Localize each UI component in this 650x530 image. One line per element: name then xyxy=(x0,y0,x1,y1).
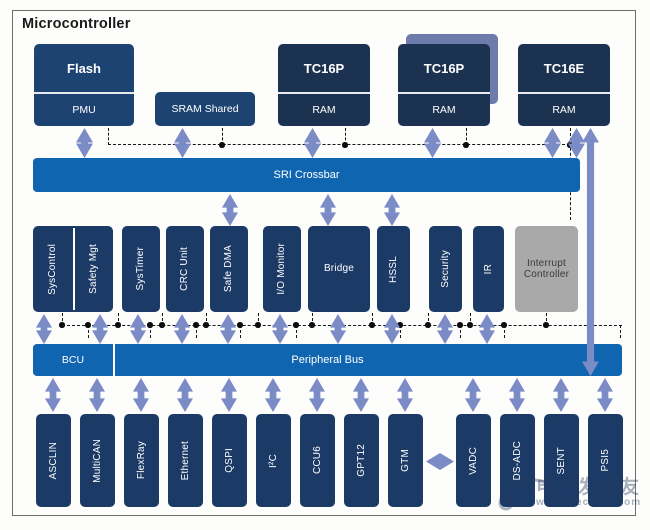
connector-arrow-vertical xyxy=(465,378,481,412)
block-label: I/O Monitor xyxy=(276,243,288,295)
block-label: Ethernet xyxy=(180,441,192,480)
connector-arrow-vertical xyxy=(553,378,569,412)
core-ram-label: RAM xyxy=(398,94,490,126)
bus-junction-dot xyxy=(293,322,299,328)
core-label: TC16E xyxy=(518,44,610,92)
block-label: VADC xyxy=(468,447,480,475)
dash-drop xyxy=(108,128,109,145)
bus-junction-dot xyxy=(457,322,463,328)
system-block-hssl[interactable]: HSSL xyxy=(377,226,410,312)
bcu-label: BCU xyxy=(33,344,113,376)
block-label: SysControl xyxy=(47,244,59,295)
bus-junction-dot xyxy=(543,322,549,328)
peripheral-bus-label: Peripheral Bus xyxy=(291,354,363,366)
block-label: FlexRay xyxy=(136,441,148,479)
bus-junction-dot xyxy=(59,322,65,328)
bus-junction-dot xyxy=(467,322,473,328)
bus-junction-dot xyxy=(159,322,165,328)
core-block-tc16e[interactable]: TC16E RAM xyxy=(518,44,610,126)
peripheral-block-gpt12[interactable]: GPT12 xyxy=(344,414,379,507)
block-label: PSI5 xyxy=(600,449,612,471)
block-label: HSSL xyxy=(388,256,400,283)
system-block-safety-mgt[interactable]: Safety Mgt xyxy=(74,226,113,312)
connector-arrow-vertical xyxy=(353,378,369,412)
connector-arrow-vertical xyxy=(221,378,237,412)
connector-arrow-vertical xyxy=(272,314,288,344)
peripheral-block-i2c[interactable]: I²C xyxy=(256,414,291,507)
peripheral-block-multican[interactable]: MultiCAN xyxy=(80,414,115,507)
bus-junction-dot xyxy=(85,322,91,328)
diagram-canvas: Microcontroller Flash PMU SRAM Shared TC… xyxy=(0,0,650,530)
connector-arrow-vertical xyxy=(397,378,413,412)
core-label: TC16P xyxy=(278,44,370,92)
bus-junction-dot xyxy=(342,142,348,148)
bcu-divider xyxy=(113,344,115,376)
block-label: Security xyxy=(440,250,452,288)
peripheral-bus[interactable]: Peripheral Bus BCU xyxy=(33,344,622,376)
connector-arrow-vertical xyxy=(133,378,149,412)
flash-label: Flash xyxy=(34,44,134,92)
connector-arrow-vertical xyxy=(384,314,400,344)
connector-arrow-vertical xyxy=(330,314,346,344)
core-label: TC16P xyxy=(398,44,490,92)
system-block-security[interactable]: Security xyxy=(429,226,462,312)
sram-shared-block[interactable]: SRAM Shared xyxy=(155,92,255,126)
peripheral-block-ccu6[interactable]: CCU6 xyxy=(300,414,335,507)
bus-junction-dot xyxy=(237,322,243,328)
bus-junction-dot xyxy=(463,142,469,148)
connector-arrow-vertical xyxy=(45,378,61,412)
block-label: Safety Mgt xyxy=(88,244,100,294)
connector-arrow-vertical xyxy=(424,128,441,158)
block-label: Interrupt Controller xyxy=(515,258,578,281)
connector-arrow-vertical xyxy=(174,314,190,344)
connector-arrow-vertical xyxy=(320,194,336,226)
system-block-crc-unit[interactable]: CRC Unit xyxy=(166,226,204,312)
block-label: CRC Unit xyxy=(179,247,191,291)
connector-arrow-vertical xyxy=(220,314,236,344)
system-block-bridge[interactable]: Bridge xyxy=(308,226,370,312)
block-label: DS-ADC xyxy=(512,441,524,481)
connector-arrow-vertical xyxy=(222,194,238,226)
peripheral-block-psi5[interactable]: PSI5 xyxy=(588,414,623,507)
block-label: GTM xyxy=(400,449,412,472)
connector-arrow-vertical xyxy=(36,314,52,344)
system-block-syscontrol[interactable]: SysControl xyxy=(33,226,73,312)
peripheral-block-flexray[interactable]: FlexRay xyxy=(124,414,159,507)
connector-arrow-vertical xyxy=(92,314,108,344)
peripheral-block-qspi[interactable]: QSPI xyxy=(212,414,247,507)
core-block-tc16p-2[interactable]: TC16P RAM xyxy=(398,44,490,126)
bus-junction-dot xyxy=(369,322,375,328)
peripheral-block-ds-adc[interactable]: DS-ADC xyxy=(500,414,535,507)
connector-arrow-vertical xyxy=(544,128,561,158)
bus-junction-dot xyxy=(147,322,153,328)
connector-arrow-vertical xyxy=(89,378,105,412)
connector-arrow-vertical xyxy=(265,378,281,412)
dash-drop xyxy=(620,325,621,338)
connector-arrow-vertical xyxy=(76,128,93,158)
connector-arrow-vertical xyxy=(309,378,325,412)
connector-arrow-vertical xyxy=(384,194,400,226)
connector-arrow-vertical xyxy=(437,314,453,344)
connector-arrow-vertical xyxy=(130,314,146,344)
pmu-label: PMU xyxy=(34,94,134,126)
bus-junction-dot xyxy=(501,322,507,328)
block-label: QSPI xyxy=(224,448,236,473)
connector-arrow-vertical xyxy=(597,378,613,412)
block-label: SENT xyxy=(556,447,568,474)
bus-junction-dot xyxy=(115,322,121,328)
block-label: Safe DMA xyxy=(223,245,235,292)
peripheral-block-asclin[interactable]: ASCLIN xyxy=(36,414,71,507)
connector-arrow-vertical xyxy=(304,128,321,158)
bus-junction-dot xyxy=(309,322,315,328)
block-label: ASCLIN xyxy=(48,442,60,479)
peripheral-block-sent[interactable]: SENT xyxy=(544,414,579,507)
peripheral-block-ethernet[interactable]: Ethernet xyxy=(168,414,203,507)
block-label: CCU6 xyxy=(312,446,324,474)
block-label: MultiCAN xyxy=(92,439,104,483)
connector-arrow-long-vertical xyxy=(582,128,599,376)
core-ram-label: RAM xyxy=(278,94,370,126)
connector-arrow-vertical xyxy=(177,378,193,412)
core-block-tc16p-1[interactable]: TC16P RAM xyxy=(278,44,370,126)
block-label: Bridge xyxy=(324,263,354,275)
block-label: GPT12 xyxy=(356,444,368,477)
block-label: IR xyxy=(483,264,495,274)
connector-arrow-vertical xyxy=(479,314,495,344)
bus-junction-dot xyxy=(219,142,225,148)
connector-arrow-horizontal xyxy=(426,453,454,470)
system-block-safe-dma[interactable]: Safe DMA xyxy=(210,226,248,312)
flash-pmu-block[interactable]: Flash PMU xyxy=(34,44,134,126)
bus-junction-dot xyxy=(203,322,209,328)
block-label: I²C xyxy=(268,454,280,468)
system-block-ir[interactable]: IR xyxy=(473,226,504,312)
sri-crossbar-bus[interactable]: SRI Crossbar xyxy=(33,158,580,192)
system-block-systimer[interactable]: SysTimer xyxy=(122,226,160,312)
bus-junction-dot xyxy=(193,322,199,328)
peripheral-block-gtm[interactable]: GTM xyxy=(388,414,423,507)
bus-junction-dot xyxy=(425,322,431,328)
block-label: SysTimer xyxy=(135,247,147,290)
connector-arrow-vertical xyxy=(174,128,191,158)
system-block-io-monitor[interactable]: I/O Monitor xyxy=(263,226,301,312)
page-title: Microcontroller xyxy=(22,16,131,32)
core-ram-label: RAM xyxy=(518,94,610,126)
connector-arrow-vertical xyxy=(509,378,525,412)
peripheral-block-vadc[interactable]: VADC xyxy=(456,414,491,507)
bus-junction-dot xyxy=(255,322,261,328)
system-block-interrupt-controller[interactable]: Interrupt Controller xyxy=(515,226,578,312)
